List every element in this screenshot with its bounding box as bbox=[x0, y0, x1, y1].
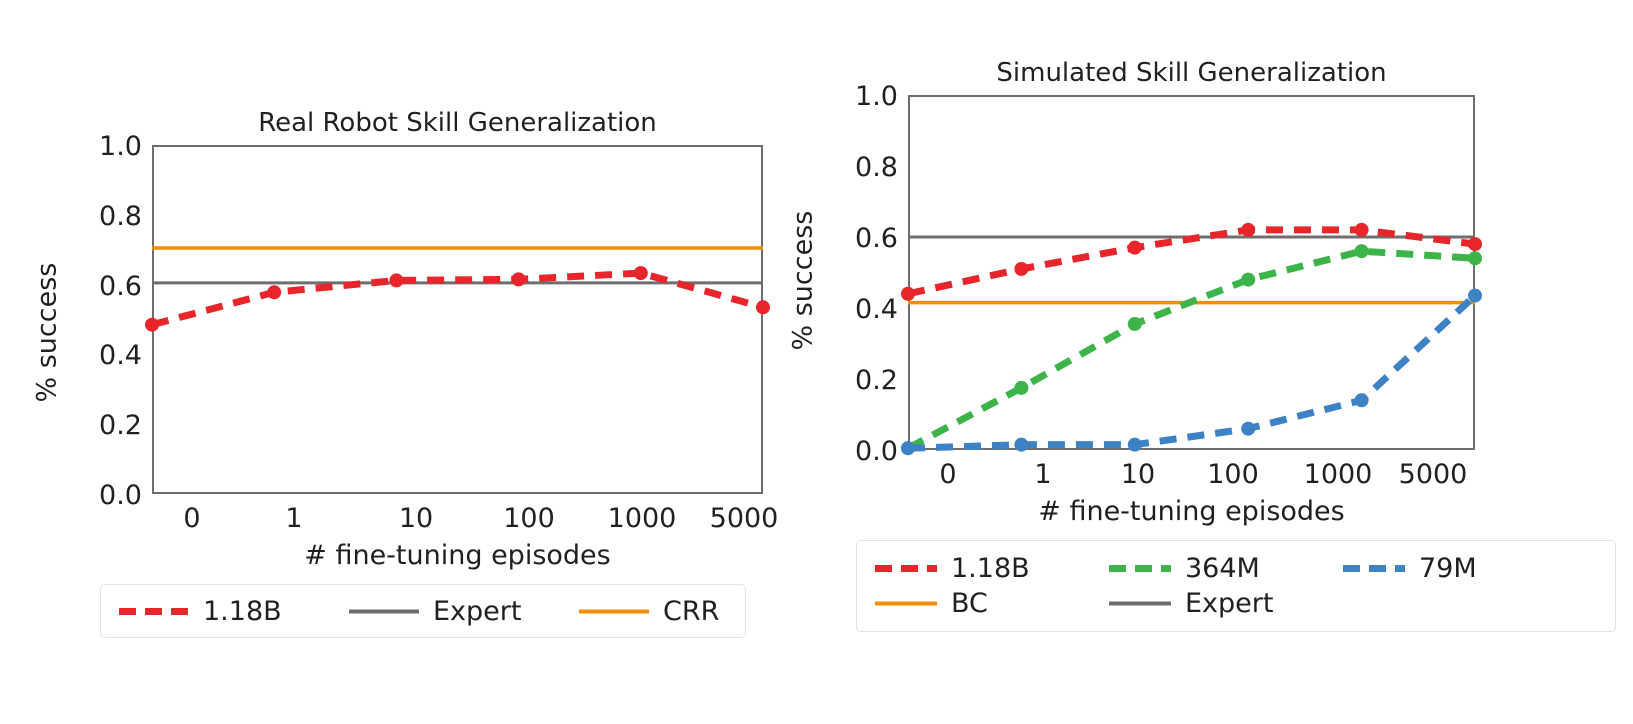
legend-simulated: 1.18B364M79M BCExpert bbox=[856, 540, 1616, 632]
data-point bbox=[901, 287, 915, 301]
legend-label: 1.18B bbox=[203, 596, 282, 627]
data-point bbox=[267, 285, 281, 299]
data-point bbox=[389, 273, 403, 287]
data-point bbox=[1468, 251, 1482, 265]
dashed-line-icon bbox=[1109, 559, 1171, 578]
legend-label: 364M bbox=[1185, 553, 1260, 584]
legend-line-icon bbox=[1109, 598, 1171, 609]
solid-line-icon bbox=[349, 602, 419, 621]
data-point bbox=[1355, 393, 1369, 407]
solid-line-icon bbox=[1109, 594, 1171, 613]
legend-entry-364m[interactable]: 364M bbox=[1109, 553, 1299, 584]
legend-line-icon bbox=[349, 606, 419, 617]
data-point bbox=[1128, 241, 1142, 255]
data-point bbox=[145, 318, 159, 332]
legend-line-icon bbox=[579, 606, 649, 617]
legend-entry-1-18b[interactable]: 1.18B bbox=[119, 596, 299, 627]
legend-entry-1-18b[interactable]: 1.18B bbox=[875, 553, 1065, 584]
data-point bbox=[1014, 262, 1028, 276]
solid-line-icon bbox=[875, 594, 937, 613]
series-line-79m bbox=[908, 296, 1475, 449]
legend-entry-expert[interactable]: Expert bbox=[349, 596, 529, 627]
legend-label: CRR bbox=[663, 596, 719, 627]
legend-label: Expert bbox=[1185, 588, 1273, 619]
series-line-1.18b bbox=[152, 273, 763, 325]
series-line-364m bbox=[908, 251, 1475, 448]
data-point bbox=[1355, 223, 1369, 237]
data-point bbox=[512, 272, 526, 286]
legend-label: BC bbox=[951, 588, 988, 619]
legend-dash-icon bbox=[1343, 563, 1405, 574]
legend-label: Expert bbox=[433, 596, 521, 627]
legend-entry-crr[interactable]: CRR bbox=[579, 596, 759, 627]
chart-panel-real-robot: Real Robot Skill Generalization 0.0 0.2 … bbox=[0, 0, 800, 724]
data-point bbox=[1241, 422, 1255, 436]
legend-line-icon bbox=[875, 598, 937, 609]
data-point bbox=[1014, 381, 1028, 395]
data-point bbox=[1241, 223, 1255, 237]
series-line-1.18b bbox=[908, 230, 1475, 294]
data-point bbox=[1128, 438, 1142, 452]
data-point bbox=[1241, 273, 1255, 287]
data-point bbox=[1014, 438, 1028, 452]
chart-panel-simulated: Simulated Skill Generalization 0.0 0.2 0… bbox=[800, 0, 1633, 724]
dashed-line-icon bbox=[119, 602, 189, 621]
figure-canvas: Real Robot Skill Generalization 0.0 0.2 … bbox=[0, 0, 1633, 724]
data-point bbox=[1355, 244, 1369, 258]
dashed-line-icon bbox=[875, 559, 937, 578]
data-point bbox=[901, 441, 915, 455]
legend-entry-bc[interactable]: BC bbox=[875, 588, 1065, 619]
dashed-line-icon bbox=[1343, 559, 1405, 578]
legend-label: 79M bbox=[1419, 553, 1477, 584]
legend-real-robot: 1.18BExpertCRR bbox=[100, 584, 746, 638]
data-point bbox=[1468, 289, 1482, 303]
legend-entry-79m[interactable]: 79M bbox=[1343, 553, 1533, 584]
legend-dash-icon bbox=[1109, 563, 1171, 574]
legend-dash-icon bbox=[119, 606, 189, 617]
legend-entry-expert[interactable]: Expert bbox=[1109, 588, 1299, 619]
data-point bbox=[1468, 237, 1482, 251]
data-point bbox=[756, 300, 770, 314]
legend-dash-icon bbox=[875, 563, 937, 574]
solid-line-icon bbox=[579, 602, 649, 621]
data-point bbox=[634, 266, 648, 280]
legend-label: 1.18B bbox=[951, 553, 1030, 584]
data-point bbox=[1128, 317, 1142, 331]
